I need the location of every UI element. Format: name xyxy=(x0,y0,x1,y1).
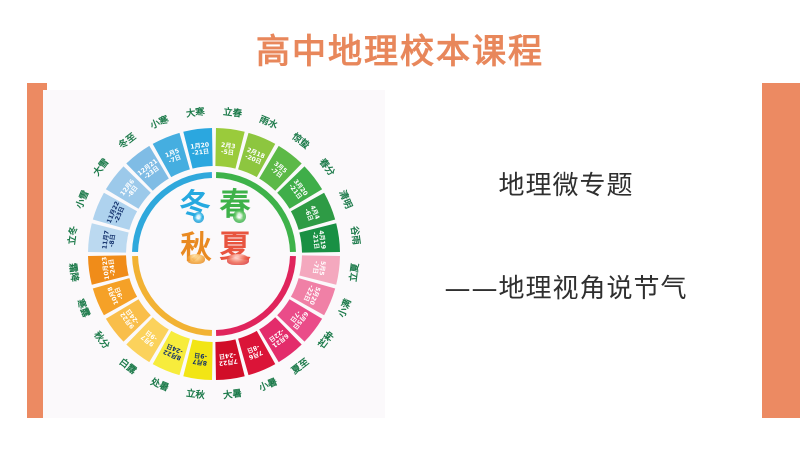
wheel-term-label: 寒露 xyxy=(74,296,93,319)
wheel-term-label: 小雪 xyxy=(73,189,92,212)
wheel-term-label: 立冬 xyxy=(66,225,80,246)
wheel-term-label: 霜降 xyxy=(66,261,81,283)
wheel-term-label: 秋分 xyxy=(91,329,112,352)
wheel-date-label: 1月20-21日 xyxy=(190,140,211,157)
wheel-term-label: 大暑 xyxy=(222,387,242,401)
wheel-term-label: 谷雨 xyxy=(348,225,362,246)
season-ring-arc-summer xyxy=(216,256,296,336)
wheel-term-label: 芒种 xyxy=(316,329,337,351)
sun-icon xyxy=(227,254,249,265)
subtitle-main: 地理微专题 xyxy=(396,165,736,202)
wheel-date-label: 7月22-24日 xyxy=(218,351,239,368)
accent-bar-right xyxy=(762,83,800,418)
wheel-term-label: 小满 xyxy=(335,297,354,320)
wheel-term-label: 大寒 xyxy=(185,105,206,119)
wheel-term-label: 夏至 xyxy=(289,356,312,377)
wheel-term-label: 大雪 xyxy=(90,156,111,178)
solar-terms-diagram: 2月3-5日2月18-20日3月5-7日3月20-21日4月4-6日4月19-2… xyxy=(43,90,385,418)
subtitle-sub: ——地理视角说节气 xyxy=(396,268,736,305)
wheel-date-label: 8月7-9日 xyxy=(192,351,208,367)
slide-canvas: 高中地理校本课程 2月3-5日2月18-20日3月5-7日3月20-21日4月4… xyxy=(0,0,800,450)
wheel-term-label: 冬至 xyxy=(116,130,139,151)
wheel-date-label: 2月3-5日 xyxy=(220,141,236,157)
wheel-term-label: 立秋 xyxy=(185,387,206,401)
wheel-season-ring xyxy=(132,172,296,336)
page-title: 高中地理校本课程 xyxy=(0,24,800,73)
snowflake-icon xyxy=(193,212,204,223)
season-ring-arc-autumn xyxy=(132,256,212,336)
wheel-date-label: 4月19-21日 xyxy=(311,230,328,251)
wheel-term-label: 白露 xyxy=(117,356,140,377)
wheel-segments xyxy=(88,128,340,380)
solar-terms-wheel-svg: 2月3-5日2月18-20日3月5-7日3月20-21日4月4-6日4月19-2… xyxy=(43,90,385,418)
wheel-date-label: 5月5-7日 xyxy=(311,260,327,276)
solar-terms-wheel: 2月3-5日2月18-20日3月5-7日3月20-21日4月4-6日4月19-2… xyxy=(43,90,385,418)
wheat-icon xyxy=(187,254,205,264)
subtitle-block: 地理微专题 ——地理视角说节气 xyxy=(396,165,736,305)
wheel-term-label: 惊蛰 xyxy=(290,130,313,151)
sprout-icon xyxy=(233,210,246,223)
wheel-term-label: 小寒 xyxy=(148,113,171,132)
wheel-term-label: 处暑 xyxy=(148,375,171,394)
wheel-term-label: 立夏 xyxy=(347,262,361,283)
wheel-term-labels: 立春雨水惊蛰春分清明谷雨立夏小满芒种夏至小暑大暑立秋处暑白露秋分寒露霜降立冬小雪… xyxy=(66,105,363,401)
wheel-term-label: 清明 xyxy=(337,189,355,211)
wheel-term-label: 小暑 xyxy=(256,376,279,395)
wheel-term-label: 立春 xyxy=(223,106,244,120)
wheel-term-label: 春分 xyxy=(316,155,338,178)
wheel-term-label: 雨水 xyxy=(258,113,280,132)
